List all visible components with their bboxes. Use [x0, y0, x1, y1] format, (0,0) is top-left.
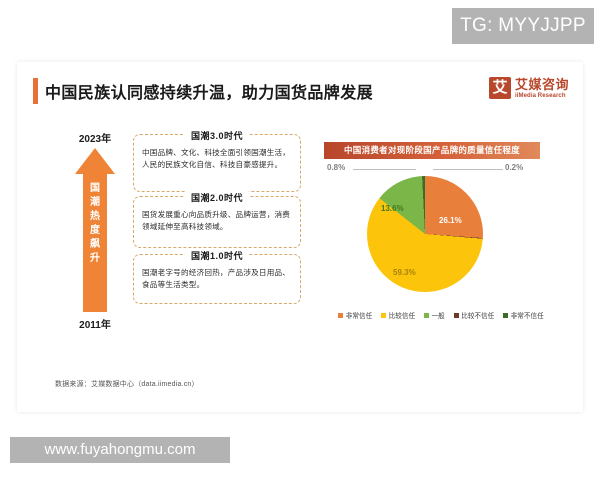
arrow-head [75, 148, 115, 174]
arrow-label-char: 潮 [83, 196, 107, 210]
era-card-1: 国潮1.0时代 国潮老字号的经济回热，产品涉及日用品、食品等生活类型。 [133, 254, 301, 304]
legend-item-very-trust[interactable]: 非常信任 [338, 310, 372, 320]
arrow-label-char: 国 [83, 182, 107, 196]
legend-item-somewhat-distrust[interactable]: 比较不信任 [454, 310, 494, 320]
brand-logo: 艾 艾媒咨询 iiMedia Research [489, 77, 569, 99]
upward-arrow-icon: 国 潮 热 度 飙 升 [75, 148, 115, 312]
pie-label-somewhat-distrust: 0.2% [505, 163, 523, 172]
timeline-panel: 2023年 2011年 国 潮 热 度 飙 升 国潮3.0时代 中国品牌、文化、… [27, 130, 307, 330]
chart-legend: 非常信任 比较信任 一般 比较不信任 非常不信任 [309, 310, 573, 320]
pie-label-neutral: 13.6% [381, 204, 404, 213]
legend-item-very-distrust[interactable]: 非常不信任 [503, 310, 543, 320]
brand-name-en: iiMedia Research [515, 93, 569, 99]
timeline-year-bottom: 2011年 [61, 316, 129, 331]
slide-header: 中国民族认同感持续升温，助力国货品牌发展 艾 艾媒咨询 iiMedia Rese… [17, 62, 583, 120]
arrow-label-char: 热 [83, 210, 107, 224]
pie-label-very-distrust: 0.8% [327, 163, 345, 172]
brand-text: 艾媒咨询 iiMedia Research [515, 78, 569, 99]
era-text: 国潮老字号的经济回热，产品涉及日用品、食品等生活类型。 [142, 267, 292, 290]
site-watermark: www.fuyahongmu.com [10, 437, 230, 463]
legend-swatch-icon [424, 313, 429, 318]
legend-label: 比较信任 [389, 310, 415, 320]
legend-label: 非常不信任 [511, 310, 544, 320]
era-card-3: 国潮3.0时代 中国品牌、文化、科技全面引领国潮生活，人民的民族文化自信、科技自… [133, 134, 301, 192]
leader-line-left [353, 169, 416, 170]
legend-swatch-icon [381, 313, 386, 318]
brand-name-cn: 艾媒咨询 [515, 78, 569, 91]
era-text: 国货发展重心向品质升级、品牌运营，消费领域延伸至高科技领域。 [142, 209, 292, 232]
era-title: 国潮3.0时代 [185, 129, 249, 142]
pie-label-very-trust: 26.1% [439, 216, 462, 225]
arrow-label-char: 度 [83, 224, 107, 238]
leader-line-right [433, 169, 503, 170]
legend-swatch-icon [338, 313, 343, 318]
legend-item-neutral[interactable]: 一般 [424, 310, 445, 320]
tg-watermark: TG: MYYJJPP [452, 8, 594, 44]
pie-chart-panel: 中国消费者对现阶段国产品牌的质量信任程度 0.8% 0.2% 26.1% 59.… [309, 132, 573, 337]
era-title: 国潮2.0时代 [185, 191, 249, 204]
legend-label: 非常信任 [346, 310, 372, 320]
legend-swatch-icon [503, 313, 508, 318]
slide-card: 中国民族认同感持续升温，助力国货品牌发展 艾 艾媒咨询 iiMedia Rese… [17, 62, 583, 412]
legend-item-somewhat-trust[interactable]: 比较信任 [381, 310, 415, 320]
arrow-label: 国 潮 热 度 飙 升 [83, 182, 107, 266]
legend-swatch-icon [454, 313, 459, 318]
legend-label: 一般 [432, 310, 445, 320]
page-title: 中国民族认同感持续升温，助力国货品牌发展 [45, 79, 373, 103]
timeline-year-top: 2023年 [61, 130, 129, 145]
pie-chart: 0.8% 0.2% 26.1% 59.3% 13.6% [309, 160, 573, 306]
chart-title: 中国消费者对现阶段国产品牌的质量信任程度 [324, 142, 540, 159]
pie-slices [367, 176, 483, 292]
arrow-label-char: 升 [83, 252, 107, 266]
legend-label: 比较不信任 [461, 310, 494, 320]
era-card-2: 国潮2.0时代 国货发展重心向品质升级、品牌运营，消费领域延伸至高科技领域。 [133, 196, 301, 248]
pie-label-somewhat-trust: 59.3% [393, 268, 416, 277]
era-text: 中国品牌、文化、科技全面引领国潮生活，人民的民族文化自信、科技自豪感提升。 [142, 147, 292, 170]
title-accent-bar [33, 78, 38, 104]
data-source-note: 数据来源：艾媒数据中心（data.iimedia.cn） [55, 379, 199, 389]
arrow-label-char: 飙 [83, 238, 107, 252]
era-title: 国潮1.0时代 [185, 249, 249, 262]
brand-mark-icon: 艾 [489, 77, 511, 99]
